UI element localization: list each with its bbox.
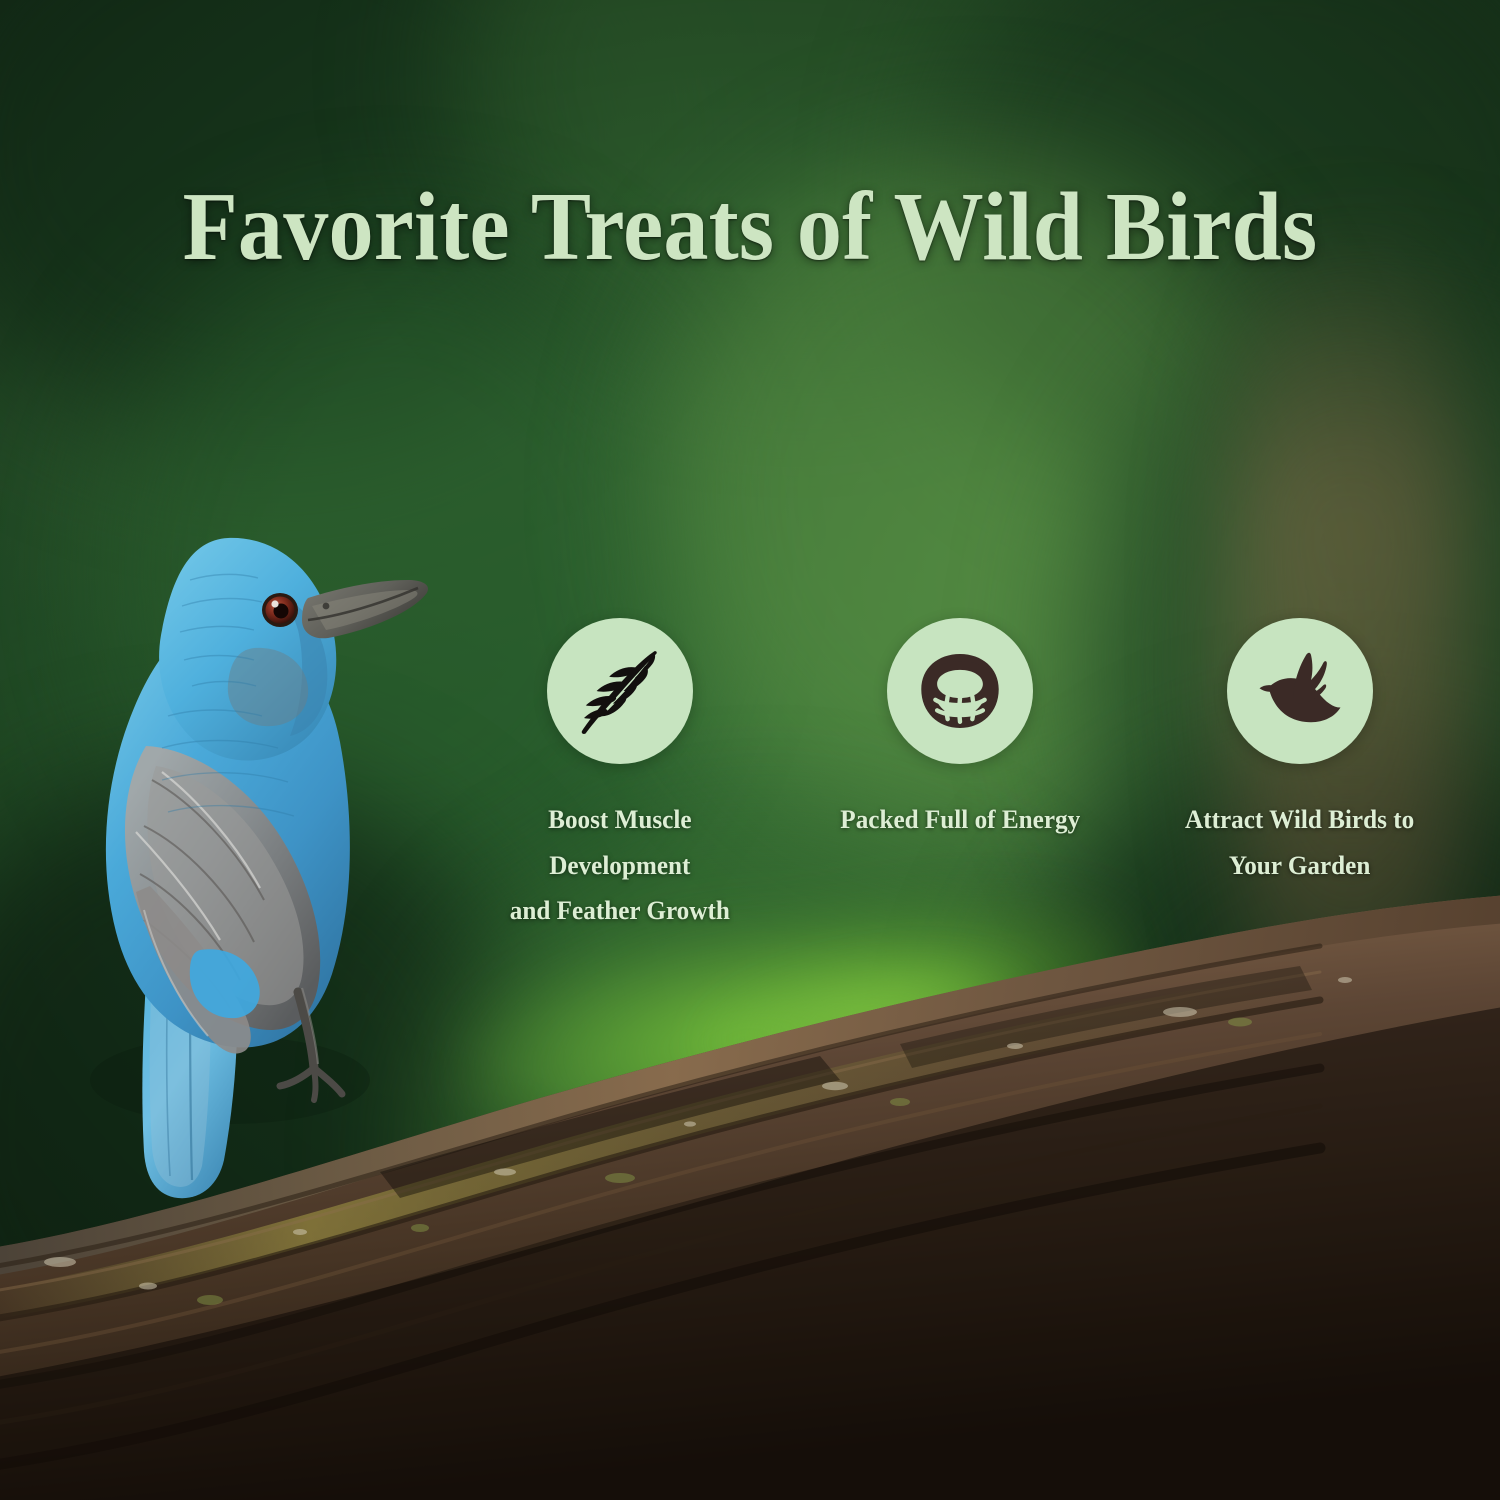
feature-label: Attract Wild Birds to Your Garden [1185, 797, 1414, 888]
product-feature-banner: Favorite Treats of Wild Birds [0, 0, 1500, 1500]
feather-icon [575, 646, 665, 736]
feature-icon-circle [1227, 618, 1373, 764]
page-title: Favorite Treats of Wild Birds [53, 178, 1448, 275]
bird-beak [302, 580, 428, 638]
bird-eye [262, 593, 298, 627]
feature-icon-circle [887, 618, 1033, 764]
suet-feeder-ball-icon [916, 647, 1004, 735]
feature-label: Packed Full of Energy [840, 797, 1080, 843]
feature-list: Boost Muscle Development and Feather Gro… [470, 618, 1450, 934]
feature-icon-circle [547, 618, 693, 764]
feature-item-attract-birds[interactable]: Attract Wild Birds to Your Garden [1150, 618, 1450, 888]
feature-label: Boost Muscle Development and Feather Gro… [510, 797, 730, 934]
feature-item-packed-energy[interactable]: Packed Full of Energy [810, 618, 1110, 843]
bird-photo-subject [40, 480, 460, 1240]
beak-nostril [323, 603, 330, 610]
flying-bird-icon [1254, 645, 1346, 737]
blue-fairy-bluebird [40, 480, 460, 1240]
eye-catchlight [271, 600, 278, 607]
feature-item-boost-muscle[interactable]: Boost Muscle Development and Feather Gro… [470, 618, 770, 934]
